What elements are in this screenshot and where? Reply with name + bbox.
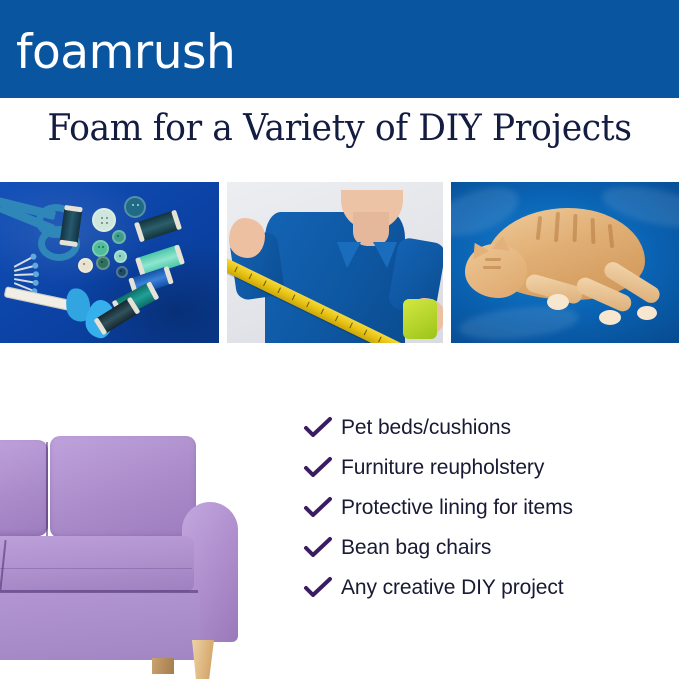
check-icon bbox=[303, 576, 341, 600]
list-item-label: Bean bag chairs bbox=[341, 536, 491, 560]
person-neck bbox=[353, 212, 389, 246]
page-title: Foam for a Variety of DIY Projects bbox=[14, 108, 666, 149]
list-item: Bean bag chairs bbox=[303, 528, 673, 568]
button bbox=[124, 196, 146, 218]
list-item: Protective lining for items bbox=[303, 488, 673, 528]
tape-measure-case bbox=[403, 299, 437, 339]
sofa-back-cushion bbox=[0, 440, 48, 536]
button bbox=[92, 208, 116, 232]
cat-on-cushion-photo bbox=[451, 182, 679, 343]
button bbox=[114, 250, 127, 263]
sewing-supplies-photo bbox=[0, 182, 219, 343]
sofa-seam bbox=[0, 590, 198, 593]
cat-head bbox=[465, 244, 527, 298]
sofa-seam bbox=[46, 442, 48, 536]
pin bbox=[14, 273, 36, 276]
sofa-base bbox=[0, 592, 200, 660]
button bbox=[96, 256, 110, 270]
shirt-collar bbox=[373, 242, 397, 268]
button bbox=[78, 258, 93, 273]
list-item: Any creative DIY project bbox=[303, 568, 673, 608]
cat-paw bbox=[637, 306, 657, 320]
list-item-label: Furniture reupholstery bbox=[341, 456, 544, 480]
sofa-leg bbox=[152, 658, 174, 674]
product-infographic: foamrush Foam for a Variety of DIY Proje… bbox=[0, 0, 679, 679]
button bbox=[116, 266, 128, 278]
list-item: Pet beds/cushions bbox=[303, 408, 673, 448]
benefit-list: Pet beds/cushions Furniture reupholstery… bbox=[303, 408, 673, 608]
list-item-label: Protective lining for items bbox=[341, 496, 573, 520]
list-item-label: Pet beds/cushions bbox=[341, 416, 511, 440]
sofa-leg bbox=[192, 640, 214, 679]
sofa-seat-cushion bbox=[0, 536, 194, 592]
button bbox=[92, 240, 109, 257]
tape-measure-photo bbox=[227, 182, 443, 343]
list-item: Furniture reupholstery bbox=[303, 448, 673, 488]
check-icon bbox=[303, 496, 341, 520]
brand-banner: foamrush bbox=[0, 0, 679, 98]
shirt-collar bbox=[337, 242, 361, 268]
cat-paw bbox=[547, 294, 569, 310]
list-item-label: Any creative DIY project bbox=[341, 576, 563, 600]
check-icon bbox=[303, 456, 341, 480]
sofa-back-cushion bbox=[50, 436, 196, 538]
brand-logo: foamrush bbox=[16, 26, 235, 80]
sofa-seam bbox=[0, 568, 192, 569]
button bbox=[112, 230, 126, 244]
photo-strip bbox=[0, 182, 679, 343]
person-hand bbox=[229, 218, 265, 258]
purple-sofa-illustration bbox=[0, 440, 278, 679]
cat-ear bbox=[492, 235, 512, 251]
check-icon bbox=[303, 536, 341, 560]
cat-paw bbox=[599, 310, 621, 325]
check-icon bbox=[303, 416, 341, 440]
